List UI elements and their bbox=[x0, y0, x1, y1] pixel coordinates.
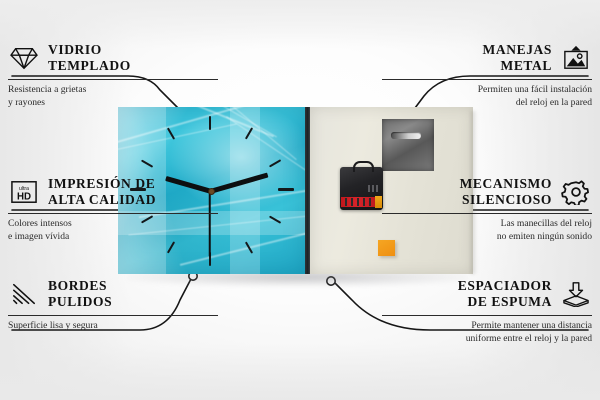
infographic-canvas: VIDRIO TEMPLADO Resistencia a grietas y … bbox=[0, 0, 600, 400]
feature-description: Las manecillas del reloj no emiten ningú… bbox=[382, 218, 592, 243]
quartz-mechanism-box bbox=[340, 167, 383, 210]
feature-header: MECANISMO SILENCIOSO bbox=[382, 176, 592, 208]
feature-mecanismo-silencioso: MECANISMO SILENCIOSO Las manecillas del … bbox=[382, 176, 592, 243]
feature-divider bbox=[8, 315, 218, 316]
feature-description: Permiten una fácil instalación del reloj… bbox=[382, 84, 592, 109]
feature-manejas-metal: MANEJAS METAL Permiten una fácil instala… bbox=[382, 42, 592, 109]
feature-bordes-pulidos: BORDES PULIDOS Superficie lisa y segura bbox=[8, 278, 218, 333]
feature-description: Resistencia a grietas y rayones bbox=[8, 84, 218, 109]
mechanism-hook bbox=[353, 161, 374, 172]
feature-vidrio-templado: VIDRIO TEMPLADO Resistencia a grietas y … bbox=[8, 42, 218, 109]
feature-title: MECANISMO SILENCIOSO bbox=[460, 176, 552, 208]
metal-hanger-plate bbox=[382, 119, 434, 171]
feature-divider bbox=[8, 213, 218, 214]
feature-header: MANEJAS METAL bbox=[382, 42, 592, 74]
feature-description: Permite mantener una distancia uniforme … bbox=[382, 320, 592, 345]
feature-header: ultra HD IMPRESIÓN DE ALTA CALIDAD bbox=[8, 176, 218, 208]
feature-espaciador-espuma: ESPACIADOR DE ESPUMA Permite mantener un… bbox=[382, 278, 592, 345]
feature-title: VIDRIO TEMPLADO bbox=[48, 42, 131, 74]
feature-description: Superficie lisa y segura bbox=[8, 320, 218, 333]
mechanism-vents bbox=[368, 185, 380, 192]
picture-hanger-icon bbox=[560, 43, 592, 73]
feature-divider bbox=[8, 79, 218, 80]
feature-header: BORDES PULIDOS bbox=[8, 278, 218, 310]
feature-title: IMPRESIÓN DE ALTA CALIDAD bbox=[48, 176, 156, 208]
gear-icon bbox=[560, 177, 592, 207]
foam-spacer-icon bbox=[560, 279, 592, 309]
diamond-icon bbox=[8, 43, 40, 73]
ultra-hd-icon: ultra HD bbox=[8, 177, 40, 207]
feature-title: ESPACIADOR DE ESPUMA bbox=[458, 278, 552, 310]
feature-impresion-alta-calidad: ultra HD IMPRESIÓN DE ALTA CALIDAD Color… bbox=[8, 176, 218, 243]
feature-title: MANEJAS METAL bbox=[483, 42, 552, 74]
feature-title: BORDES PULIDOS bbox=[48, 278, 112, 310]
polished-edges-icon bbox=[8, 279, 40, 309]
clock-tick-3 bbox=[278, 188, 294, 191]
feature-header: VIDRIO TEMPLADO bbox=[8, 42, 218, 74]
feature-description: Colores intensos e imagen vívida bbox=[8, 218, 218, 243]
svg-text:HD: HD bbox=[17, 191, 31, 202]
feature-divider bbox=[382, 213, 592, 214]
clock-tick-2 bbox=[269, 159, 281, 168]
battery-slot bbox=[375, 196, 382, 208]
feature-header: ESPACIADOR DE ESPUMA bbox=[382, 278, 592, 310]
feature-divider bbox=[382, 315, 592, 316]
feature-divider bbox=[382, 79, 592, 80]
hanger-slot bbox=[391, 132, 421, 139]
